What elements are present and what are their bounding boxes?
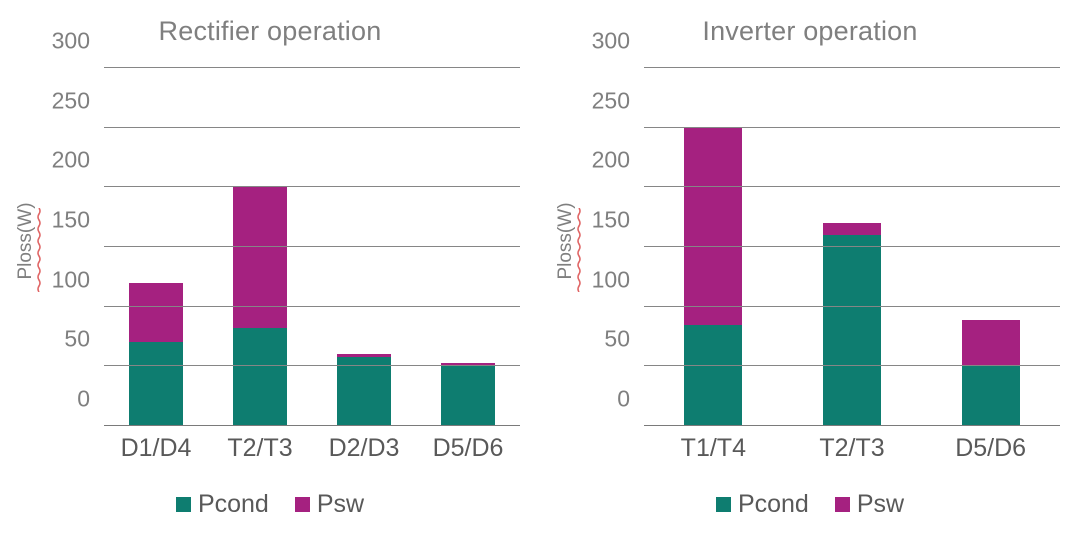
bar-segment-psw	[823, 223, 881, 235]
bar-segment-pcond	[684, 325, 742, 426]
y-axis-ticks: 300250200150100500	[0, 68, 96, 426]
gridline-300	[104, 67, 520, 68]
bar-slot	[416, 68, 520, 426]
y-tick-label-300: 300	[52, 28, 90, 55]
gridline-100	[644, 306, 1060, 307]
stacked-bar-chart-figure: Rectifier operation Ploss(W) 30025020015…	[0, 0, 1080, 537]
bar-segment-psw	[337, 354, 391, 356]
gridline-50	[104, 365, 520, 366]
bar-slot	[783, 68, 922, 426]
plot-area	[104, 68, 520, 426]
gridline-150	[104, 246, 520, 247]
x-tick-label-D5-D6: D5/D6	[955, 434, 1026, 463]
bar-segment-psw	[233, 187, 287, 328]
bar-segment-pcond	[129, 342, 183, 426]
y-tick-label-50: 50	[64, 326, 90, 353]
x-tick-label-T1-T4: T1/T4	[681, 434, 746, 463]
legend-item-pcond[interactable]: Pcond	[716, 490, 809, 519]
x-tick-label-D1-D4: D1/D4	[121, 434, 192, 463]
legend-label: Pcond	[738, 490, 809, 519]
y-tick-label-250: 250	[52, 87, 90, 114]
gridline-50	[644, 365, 1060, 366]
y-tick-label-100: 100	[52, 266, 90, 293]
y-tick-label-150: 150	[52, 207, 90, 234]
x-tick-label-D2-D3: D2/D3	[329, 434, 400, 463]
bar-segment-psw	[962, 320, 1020, 367]
bar-segment-pcond	[233, 328, 287, 426]
legend: PcondPsw	[540, 490, 1080, 519]
legend-item-psw[interactable]: Psw	[835, 490, 904, 519]
legend-label: Pcond	[198, 490, 269, 519]
legend-item-psw[interactable]: Psw	[295, 490, 364, 519]
y-axis-ticks: 300250200150100500	[540, 68, 636, 426]
y-tick-label-100: 100	[592, 266, 630, 293]
gridline-0	[104, 425, 520, 427]
x-tick-label-T2-T3: T2/T3	[227, 434, 292, 463]
y-tick-label-0: 0	[77, 386, 90, 413]
legend-swatch-psw-icon	[835, 497, 850, 512]
bar-segment-pcond	[823, 235, 881, 426]
gridline-200	[104, 186, 520, 187]
legend-swatch-pcond-icon	[716, 497, 731, 512]
chart-panel-rectifier: Rectifier operation Ploss(W) 30025020015…	[0, 0, 540, 537]
y-tick-label-50: 50	[604, 326, 630, 353]
bar-segment-pcond	[337, 357, 391, 426]
legend-swatch-pcond-icon	[176, 497, 191, 512]
x-axis-labels: T1/T4T2/T3D5/D6	[644, 434, 1060, 474]
y-tick-label-300: 300	[592, 28, 630, 55]
gridline-300	[644, 67, 1060, 68]
chart-panel-inverter: Inverter operation Ploss(W) 300250200150…	[540, 0, 1080, 537]
y-tick-label-0: 0	[617, 386, 630, 413]
gridline-0	[644, 425, 1060, 427]
y-tick-label-200: 200	[592, 147, 630, 174]
legend-swatch-psw-icon	[295, 497, 310, 512]
legend-label: Psw	[857, 490, 904, 519]
x-tick-label-D5-D6: D5/D6	[433, 434, 504, 463]
bar-segment-psw	[684, 128, 742, 325]
bar-segment-psw	[129, 283, 183, 343]
y-tick-label-200: 200	[52, 147, 90, 174]
legend-item-pcond[interactable]: Pcond	[176, 490, 269, 519]
gridline-250	[644, 127, 1060, 128]
legend-label: Psw	[317, 490, 364, 519]
legend: PcondPsw	[0, 490, 540, 519]
bar-slot	[312, 68, 416, 426]
bar-slot	[921, 68, 1060, 426]
bar-slot	[644, 68, 783, 426]
gridline-200	[644, 186, 1060, 187]
y-tick-label-150: 150	[592, 207, 630, 234]
gridline-250	[104, 127, 520, 128]
y-tick-label-250: 250	[592, 87, 630, 114]
gridline-150	[644, 246, 1060, 247]
bar-slot	[104, 68, 208, 426]
plot-area	[644, 68, 1060, 426]
bars-group	[104, 68, 520, 426]
x-axis-labels: D1/D4T2/T3D2/D3D5/D6	[104, 434, 520, 474]
bars-group	[644, 68, 1060, 426]
x-tick-label-T2-T3: T2/T3	[819, 434, 884, 463]
gridline-100	[104, 306, 520, 307]
bar-segment-pcond	[441, 366, 495, 426]
bar-segment-pcond	[962, 366, 1020, 426]
bar-slot	[208, 68, 312, 426]
